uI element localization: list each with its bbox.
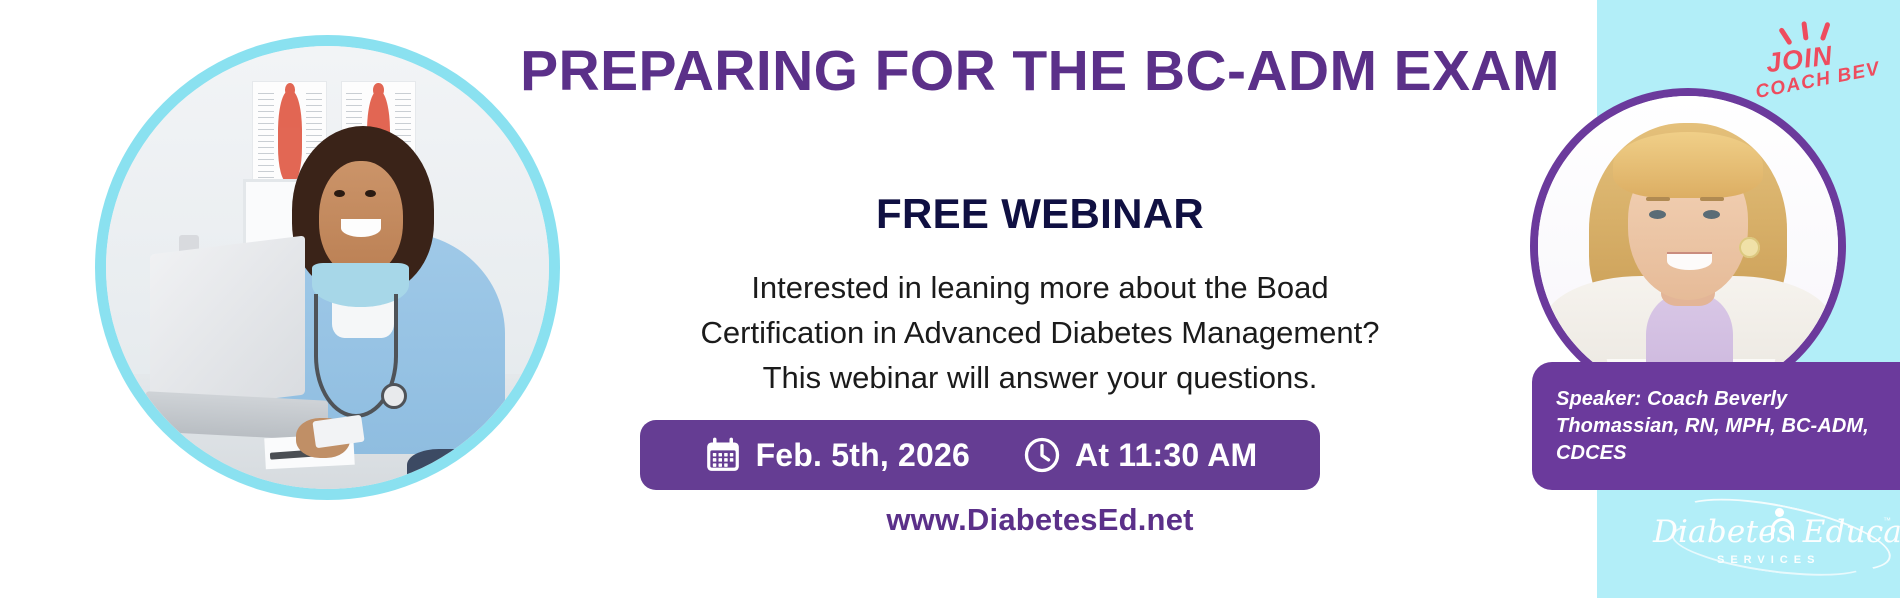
page-title: PREPARING FOR THE BC-ADM EXAM (480, 38, 1600, 104)
earring-icon (1739, 237, 1760, 258)
webinar-banner: PREPARING FOR THE BC-ADM EXAM FREE WEBIN… (0, 0, 1900, 598)
logo-subtitle: SERVICES (1717, 554, 1820, 566)
calendar-icon (703, 435, 743, 475)
webinar-date: Feb. 5th, 2026 (756, 437, 970, 474)
clock-icon (1022, 435, 1062, 475)
person-smile (341, 219, 381, 237)
speaker-smile (1667, 252, 1712, 270)
speaker-portrait-photo (1538, 96, 1838, 396)
poster-text-lines (258, 93, 274, 178)
speaker-bangs (1613, 132, 1763, 198)
date-group: Feb. 5th, 2026 (703, 435, 970, 475)
subtitle-free-webinar: FREE WEBINAR (480, 190, 1600, 238)
speaker-eyebrow (1646, 197, 1670, 201)
center-content: PREPARING FOR THE BC-ADM EXAM FREE WEBIN… (480, 0, 1600, 598)
logo-trademark: ™ (1883, 516, 1891, 525)
speaker-credentials: Speaker: Coach Beverly Thomassian, RN, M… (1556, 386, 1878, 467)
laptop-screen (150, 236, 305, 415)
speaker-eyebrow (1700, 197, 1724, 201)
body-line-3: This webinar will answer your questions. (480, 355, 1600, 400)
time-group: At 11:30 AM (1022, 435, 1257, 475)
speaker-eye (1703, 210, 1720, 219)
webinar-time: At 11:30 AM (1075, 437, 1257, 474)
body-copy: Interested in leaning more about the Boa… (480, 265, 1600, 400)
website-link[interactable]: www.DiabetesEd.net (480, 502, 1600, 538)
body-line-1: Interested in leaning more about the Boa… (480, 265, 1600, 310)
body-line-2: Certification in Advanced Diabetes Manag… (480, 310, 1600, 355)
folded-cloth (407, 449, 487, 489)
join-coach-bev-badge: JOIN COACH BEV (1748, 12, 1889, 106)
person-eye (334, 190, 345, 197)
speaker-info-box: Speaker: Coach Beverly Thomassian, RN, M… (1532, 362, 1900, 490)
person-eye (365, 190, 376, 197)
diabetes-education-services-logo: Diabetes Education SERVICES ™ (1645, 508, 1893, 586)
datetime-bar: Feb. 5th, 2026 At 11:30 AM (640, 420, 1320, 490)
anatomy-figure-icon (278, 91, 301, 182)
speaker-eye (1649, 210, 1666, 219)
speaker-photo-ring (1530, 88, 1846, 404)
logo-wordmark: Diabetes Education (1653, 514, 1900, 550)
